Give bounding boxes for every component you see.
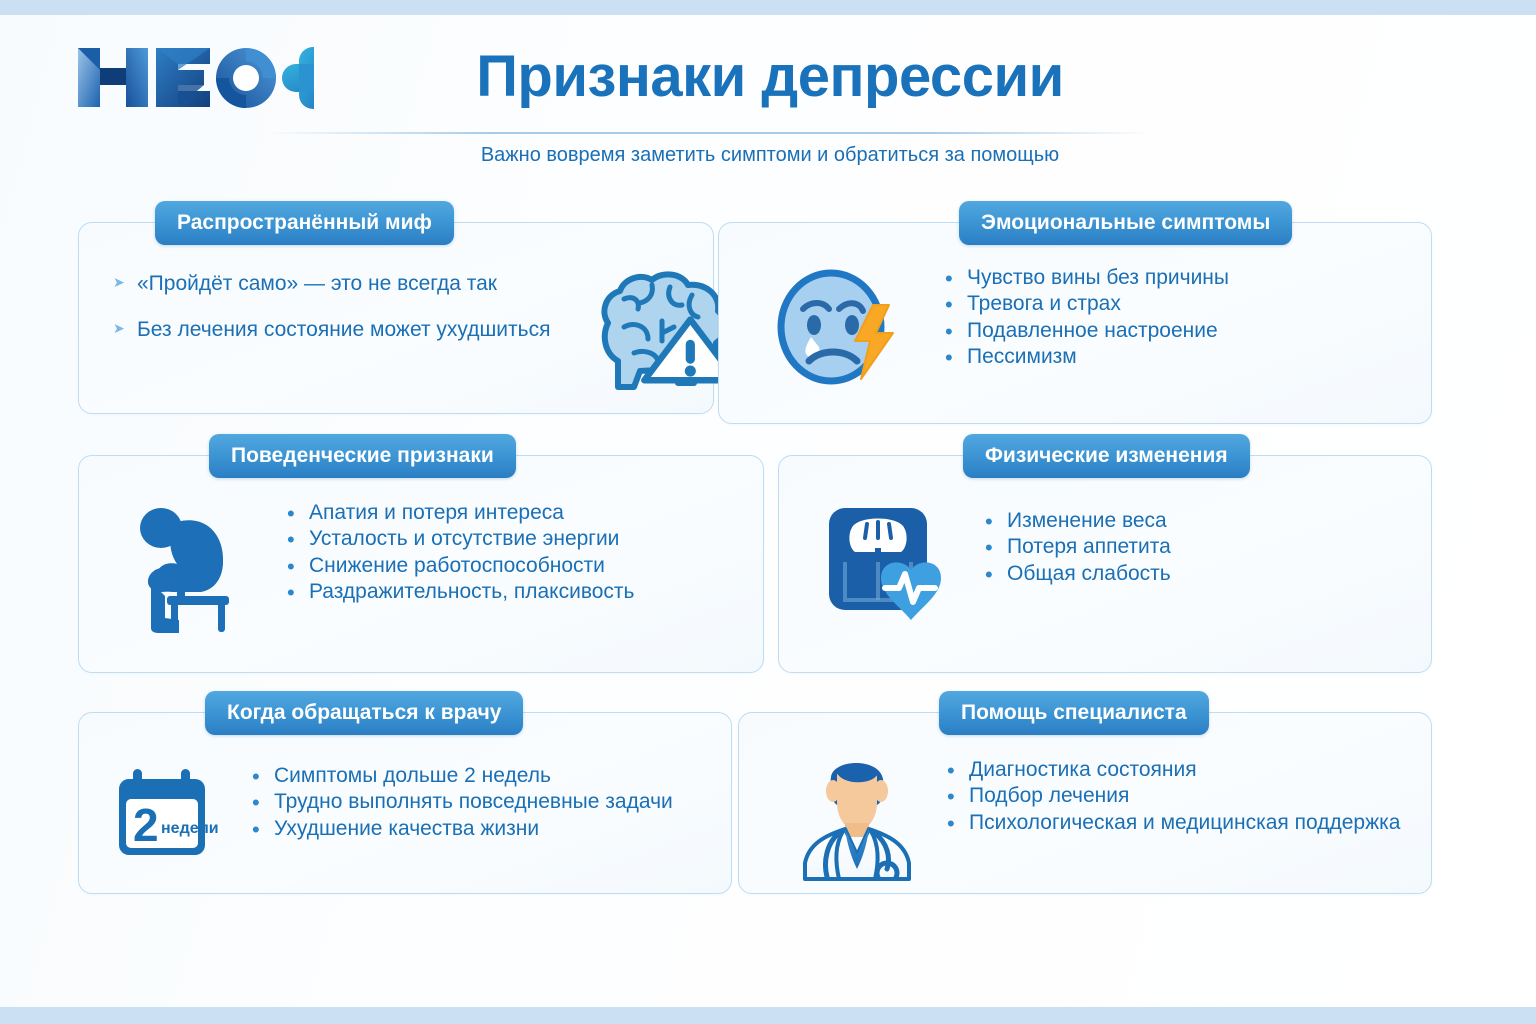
card-specialist-help-list: Диагностика состояния Подбор лечения Пси… xyxy=(945,757,1400,836)
sad-face-lightning-icon xyxy=(769,263,909,393)
header: Признаки депрессии Важно вовремя заметит… xyxy=(0,15,1536,175)
list-item: Трудно выполнять повседневные задачи xyxy=(250,789,673,815)
card-behavior-list: Апатия и потеря интереса Усталость и отс… xyxy=(285,500,635,605)
list-item: Диагностика состояния xyxy=(945,757,1400,783)
doctor-icon xyxy=(787,751,927,881)
card-specialist-help-title: Помощь специалиста xyxy=(939,691,1209,735)
card-when-to-see-doctor-list: Симптомы дольше 2 недель Трудно выполнят… xyxy=(250,763,673,842)
card-physical-list: Изменение веса Потеря аппетита Общая сла… xyxy=(983,508,1171,587)
list-item: Ухудшение качества жизни xyxy=(250,816,673,842)
infographic-page: Признаки депрессии Важно вовремя заметит… xyxy=(0,0,1536,1024)
list-item: Без лечения состояние может ухудшиться xyxy=(113,317,550,343)
bottom-band xyxy=(0,1007,1536,1024)
page-subtitle: Важно вовремя заметить симптоми и обрати… xyxy=(380,144,1160,167)
list-item: Апатия и потеря интереса xyxy=(285,500,635,526)
card-emotional-title: Эмоциональные симптомы xyxy=(959,201,1292,245)
card-myth-title: Распространённый миф xyxy=(155,201,454,245)
list-item: «Пройдёт само» — это не всегда так xyxy=(113,271,550,297)
list-item: Общая слабость xyxy=(983,561,1171,587)
card-myth: Распространённый миф «Пройдёт само» — эт… xyxy=(78,222,714,414)
card-behavior: Поведенческие признаки xyxy=(78,455,764,673)
card-when-to-see-doctor-title: Когда обращаться к врачу xyxy=(205,691,523,735)
list-item: Подавленное настроение xyxy=(943,318,1229,344)
list-item: Снижение работоспособности xyxy=(285,553,635,579)
card-emotional: Эмоциональные симптомы Чувство вины без … xyxy=(718,222,1432,424)
list-item: Потеря аппетита xyxy=(983,534,1171,560)
calendar-caption: недели xyxy=(161,820,219,837)
list-item: Психологическая и медицинская поддержка xyxy=(945,810,1400,836)
list-item: Чувство вины без причины xyxy=(943,265,1229,291)
neo-plus-logo xyxy=(74,40,314,115)
card-when-to-see-doctor: Когда обращаться к врачу 2 недели Симпто… xyxy=(78,712,732,894)
card-myth-list: «Пройдёт само» — это не всегда так Без л… xyxy=(113,271,550,344)
card-behavior-title: Поведенческие признаки xyxy=(209,434,516,478)
list-item: Пессимизм xyxy=(943,344,1229,370)
card-emotional-list: Чувство вины без причины Тревога и страх… xyxy=(943,265,1229,370)
list-item: Усталость и отсутствие энергии xyxy=(285,526,635,552)
page-title: Признаки депрессии xyxy=(380,43,1160,110)
card-physical-title: Физические изменения xyxy=(963,434,1250,478)
calendar-two-weeks-icon: 2 недели xyxy=(111,761,226,866)
list-item: Симптомы дольше 2 недель xyxy=(250,763,673,789)
title-divider xyxy=(268,132,1154,134)
list-item: Раздражительность, плаксивость xyxy=(285,579,635,605)
weight-scale-heart-icon xyxy=(823,502,953,632)
card-specialist-help: Помощь специалиста xyxy=(738,712,1432,894)
list-item: Подбор лечения xyxy=(945,783,1400,809)
list-item: Изменение веса xyxy=(983,508,1171,534)
sitting-person-icon xyxy=(133,500,253,635)
list-item: Тревога и страх xyxy=(943,291,1229,317)
calendar-number: 2 xyxy=(133,799,159,851)
card-physical: Физические изменения Изменение веса xyxy=(778,455,1432,673)
top-band xyxy=(0,0,1536,15)
